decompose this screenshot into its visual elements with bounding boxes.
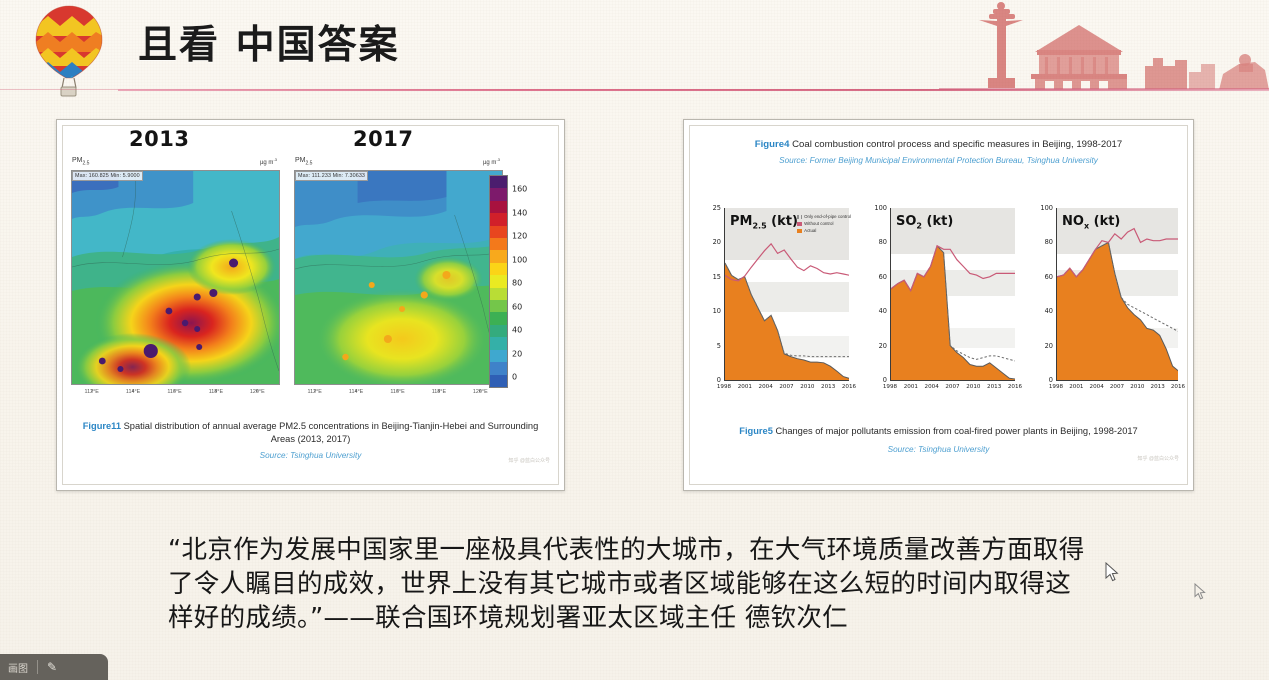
left-figure-source: Source: Tsinghua University (71, 449, 550, 462)
x-axis-tick: 2001 (1069, 384, 1083, 390)
colorbar-label: 0 (512, 373, 517, 382)
map-2017-header: PM2.5 µg m-3 (294, 157, 501, 170)
x-axis-tick: 1998 (1049, 384, 1063, 390)
y-axis-tick: 0 (698, 376, 721, 384)
x-axis-tick: 2010 (1130, 384, 1144, 390)
x-axis-tick: 2010 (966, 384, 980, 390)
x-axis-tick: 2004 (925, 384, 939, 390)
colorbar-segment (490, 201, 507, 213)
map-2013: PM2.5 µg m-3 (71, 157, 278, 401)
colorbar-segment (490, 312, 507, 324)
map-2017-pm-label: PM2.5 (295, 157, 312, 166)
y-axis-tick: 100 (1030, 204, 1053, 212)
tiananmen-great-wall-icon (939, 0, 1269, 92)
colorbar-segment (490, 188, 507, 200)
y-axis-tick: 80 (1030, 238, 1053, 246)
map-2013-pm-label: PM2.5 (72, 157, 89, 166)
slide-header: 且看 中国答案 (0, 0, 1269, 96)
mouse-cursor-primary (1105, 562, 1119, 587)
x-axis-tick: 2010 (800, 384, 814, 390)
colorbar-label: 100 (512, 255, 527, 264)
right-caption-tag: Figure5 (739, 426, 773, 436)
x-axis-tick: 2007 (945, 384, 959, 390)
x-axis-tick: 2016 (842, 384, 856, 390)
pm25-colorbar: 160140120100806040200 (489, 175, 549, 390)
x-axis-tick: 2001 (904, 384, 918, 390)
left-watermark: 知乎 @蓝白公众号 (509, 458, 550, 464)
right-caption-source: Source: Tsinghua University (698, 443, 1179, 456)
colorbar-segment (490, 238, 507, 250)
legend-item: Only end-of-pipe control (797, 213, 851, 220)
y-axis-tick: 0 (1030, 376, 1053, 384)
actual-area (1057, 242, 1178, 380)
right-figure-header: Figure4 Coal combustion control process … (696, 138, 1181, 152)
x-axis-tick: 2013 (987, 384, 1001, 390)
map-2017-canvas: Max: 111.233 Min: 7.30633 (294, 170, 503, 385)
map-year-2013: 2013 (129, 127, 189, 151)
withoutcontrol-line (1057, 229, 1178, 277)
legend-item: Without control (797, 220, 851, 227)
right-figure-tag: Figure4 (755, 139, 790, 150)
quote-line-3: 样好的成绩。”——联合国环境规划署亚太区域主任 德钦次仁 (168, 601, 1128, 635)
y-axis-tick: 80 (864, 238, 887, 246)
colorbar-segment (490, 226, 507, 238)
x-axis-tick: 2001 (738, 384, 752, 390)
y-axis-tick: 10 (698, 307, 721, 315)
x-axis-tick: 1998 (883, 384, 897, 390)
right-watermark: 知乎 @蓝白公众号 (1138, 456, 1179, 462)
chart-title: PM2.5 (kt) (730, 214, 798, 231)
map-2013-lon-axis: 112°E 114°E 116°E 118°E 120°E (71, 385, 278, 401)
plot-area (1056, 208, 1178, 381)
y-axis-tick: 20 (698, 238, 721, 246)
y-axis-tick: 0 (864, 376, 887, 384)
map-2017-minmax: Max: 111.233 Min: 7.30633 (295, 171, 368, 181)
x-axis-tick: 2007 (779, 384, 793, 390)
toolbar-divider (37, 660, 38, 674)
plot-area (890, 208, 1015, 381)
hot-air-balloon-icon (24, 2, 114, 98)
right-figure-source: Source: Former Beijing Municipal Environ… (696, 156, 1181, 165)
map-2013-unit: µg m-3 (260, 157, 277, 166)
toolbar-label[interactable]: 画图 (8, 660, 28, 675)
colorbar-label: 140 (512, 208, 527, 217)
y-axis-tick: 40 (1030, 307, 1053, 315)
y-axis-tick: 60 (864, 273, 887, 281)
chart-pm25: PM2.5 (kt)Only end-of-pipe controlWithou… (698, 208, 853, 404)
colorbar-label: 120 (512, 232, 527, 241)
withoutcontrol-line (891, 246, 1015, 291)
pen-icon[interactable]: ✎ (47, 660, 57, 674)
x-axis-tick: 2013 (821, 384, 835, 390)
left-figure-caption: Figure11 Spatial distribution of annual … (71, 420, 550, 462)
y-axis-tick: 100 (864, 204, 887, 212)
colorbar-label: 80 (512, 279, 522, 288)
pm25-maps-card: 2013 PM2.5 µg m-3 (56, 119, 565, 491)
x-axis-tick: 1998 (717, 384, 731, 390)
colorbar-segment (490, 176, 507, 188)
quote-line-1: “北京作为发展中国家里一座极具代表性的大城市，在大气环境质量改善方面取得 (168, 533, 1128, 567)
map-2013-minmax: Max: 160.825 Min: 5.9000 (72, 171, 143, 181)
map-2013-canvas: Max: 160.825 Min: 5.9000 (71, 170, 280, 385)
y-axis-tick: 20 (1030, 342, 1053, 350)
map-year-2017: 2017 (353, 127, 413, 151)
bottom-toolbar[interactable]: 画图 ✎ (0, 654, 108, 680)
x-axis-tick: 2016 (1171, 384, 1185, 390)
map-2017: PM2.5 µg m-3 (294, 157, 501, 401)
y-axis-tick: 60 (1030, 273, 1053, 281)
colorbar-label: 160 (512, 185, 527, 194)
map-2013-header: PM2.5 µg m-3 (71, 157, 278, 170)
colorbar-segment (490, 263, 507, 275)
legend-item: Actual (797, 227, 851, 234)
quote-line-2: 了令人瞩目的成效，世界上没有其它城市或者区域能够在这么短的时间内取得这 (168, 567, 1128, 601)
colorbar-segment (490, 375, 507, 387)
colorbar-segment (490, 213, 507, 225)
right-figure-text: Coal combustion control process and spec… (789, 139, 1122, 150)
y-axis-tick: 40 (864, 307, 887, 315)
actual-area (891, 246, 1015, 380)
y-axis-tick: 15 (698, 273, 721, 281)
y-axis-tick: 25 (698, 204, 721, 212)
colorbar-segment (490, 350, 507, 362)
header-rule (118, 89, 1269, 91)
chart-legend: Only end-of-pipe controlWithout controlA… (797, 213, 851, 234)
actual-area (725, 263, 849, 380)
x-axis-tick: 2013 (1151, 384, 1165, 390)
right-figure-caption: Figure5 Changes of major pollutants emis… (698, 425, 1179, 456)
chart-title: NOx (kt) (1062, 214, 1120, 231)
x-axis-tick: 2007 (1110, 384, 1124, 390)
colorbar-segment (490, 300, 507, 312)
x-axis-tick: 2004 (1090, 384, 1104, 390)
map-2017-unit: µg m-3 (483, 157, 500, 166)
colorbar-segment (490, 250, 507, 262)
colorbar-label: 40 (512, 326, 522, 335)
colorbar-label: 20 (512, 349, 522, 358)
x-axis-tick: 2004 (759, 384, 773, 390)
colorbar-strip (489, 175, 508, 388)
withoutcontrol-line (725, 244, 849, 281)
y-axis-tick: 5 (698, 342, 721, 350)
colorbar-segment (490, 337, 507, 349)
quote-block: “北京作为发展中国家里一座极具代表性的大城市，在大气环境质量改善方面取得 了令人… (168, 533, 1128, 635)
chart-so2: SO2 (kt)02040608010019982001200420072010… (864, 208, 1019, 404)
x-axis-tick: 2016 (1008, 384, 1022, 390)
colorbar-segment (490, 275, 507, 287)
left-figure-text: Spatial distribution of annual average P… (121, 421, 538, 444)
y-axis-tick: 20 (864, 342, 887, 350)
page-title: 且看 中国答案 (138, 14, 400, 70)
pollutant-charts-card: Figure4 Coal combustion control process … (683, 119, 1194, 491)
map-2017-lon-axis: 112°E 114°E 116°E 118°E 120°E (294, 385, 501, 401)
right-caption-text: Changes of major pollutants emission fro… (773, 426, 1138, 436)
chart-title: SO2 (kt) (896, 214, 953, 231)
mouse-cursor-secondary (1194, 583, 1206, 605)
colorbar-segment (490, 288, 507, 300)
left-figure-tag: Figure11 (83, 421, 121, 431)
chart-nox: NOx (kt)02040608010019982001200420072010… (1030, 208, 1182, 404)
colorbar-segment (490, 362, 507, 374)
colorbar-segment (490, 325, 507, 337)
colorbar-label: 60 (512, 302, 522, 311)
